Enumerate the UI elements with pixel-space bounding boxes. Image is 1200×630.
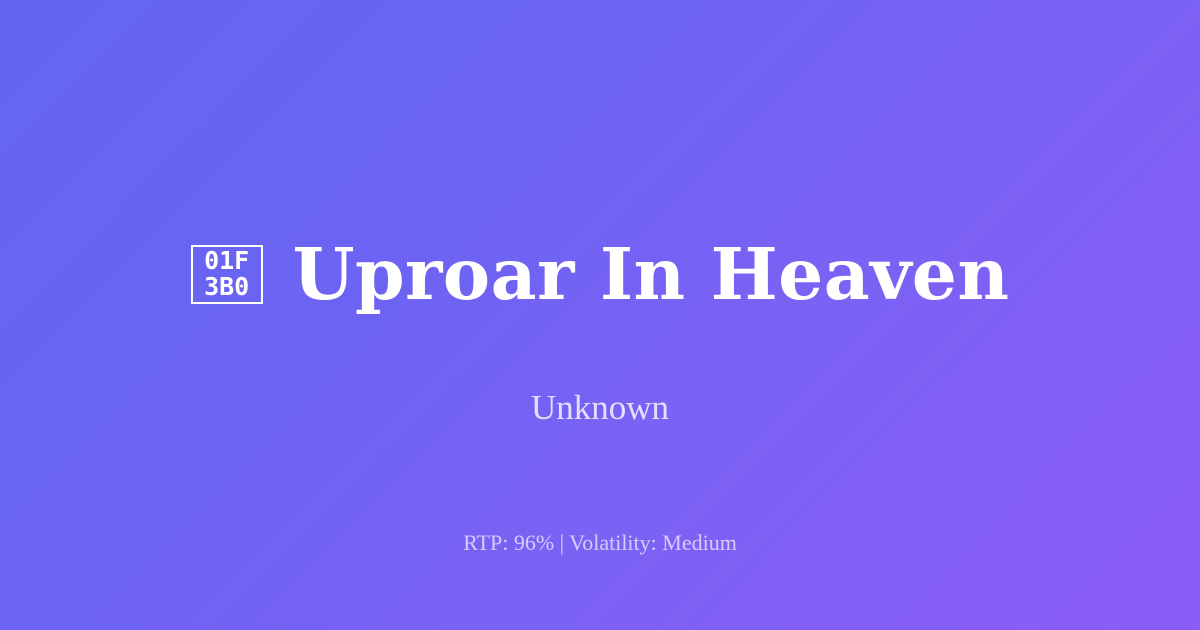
tofu-codepoint-top: 01F	[204, 248, 249, 274]
tofu-codepoint-bottom: 3B0	[204, 274, 249, 300]
title-row: 01F 3B0 Uproar In Heaven	[191, 226, 1010, 322]
slot-machine-icon: 01F 3B0	[191, 245, 263, 304]
card-hero: 01F 3B0 Uproar In Heaven Unknown	[0, 226, 1200, 430]
game-title: Uproar In Heaven	[293, 230, 1010, 318]
game-provider-subtitle: Unknown	[531, 386, 669, 430]
og-share-card: 01F 3B0 Uproar In Heaven Unknown RTP: 96…	[0, 0, 1200, 630]
game-stats-line: RTP: 96% | Volatility: Medium	[0, 528, 1200, 558]
